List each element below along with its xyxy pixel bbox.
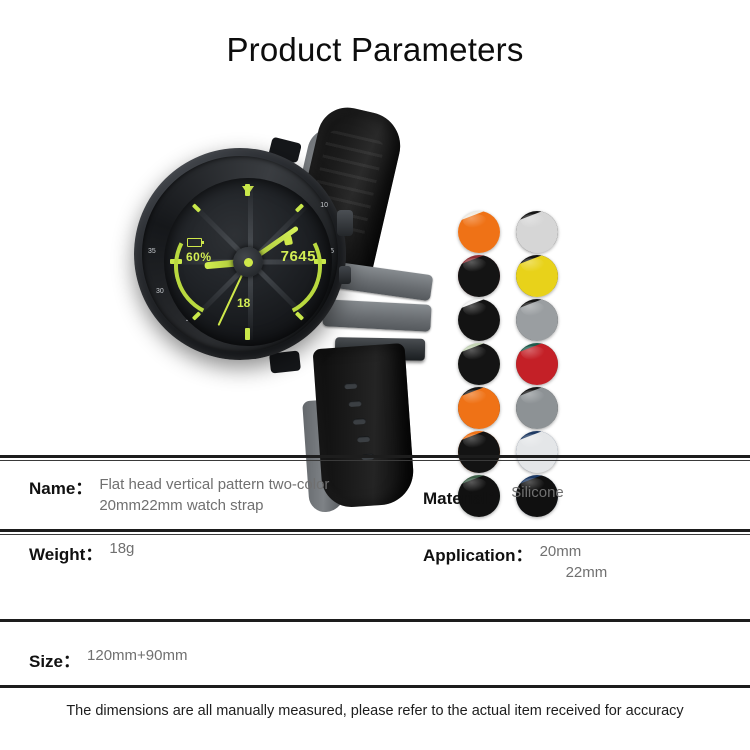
color-swatch-grid[interactable] (458, 211, 560, 517)
bezel-number-10: 10 (320, 202, 328, 209)
page-title: Product Parameters (0, 31, 750, 69)
watch-crown (337, 210, 353, 236)
strap-keeper-loop-2 (322, 299, 431, 332)
color-swatch-gray-black[interactable] (516, 299, 558, 341)
watch-pusher (339, 266, 351, 284)
table-rule-3 (0, 685, 750, 688)
spec-size-label: Size： (29, 647, 80, 672)
measurement-disclaimer: The dimensions are all manually measured… (0, 703, 750, 719)
spec-weight-value: 18g (109, 540, 134, 557)
watch-case: 10 15 20 25 30 35 (134, 148, 346, 360)
color-swatch-navy-white[interactable] (516, 431, 558, 473)
spec-application-value: 20mm 22mm (540, 541, 608, 584)
battery-icon (187, 238, 202, 247)
color-swatch-gray-black-2[interactable] (516, 387, 558, 429)
table-rule-top-hairline (0, 460, 750, 461)
spec-name: Name： Flat head vertical pattern two-col… (29, 474, 409, 517)
color-swatch-black-white[interactable] (516, 211, 558, 253)
table-rule-top (0, 455, 750, 458)
table-rule-1-hairline (0, 534, 750, 535)
color-swatch-sage-black[interactable] (458, 343, 500, 385)
spec-weight: Weight： 18g (29, 540, 134, 565)
spec-name-label: Name： (29, 474, 92, 499)
color-swatch-black-yellow[interactable] (516, 255, 558, 297)
color-swatch-white-black[interactable] (458, 299, 500, 341)
color-swatch-orange-black[interactable] (458, 387, 500, 429)
table-rule-1 (0, 529, 750, 532)
bezel-number-35: 35 (148, 248, 156, 255)
color-swatch-green-red[interactable] (516, 343, 558, 385)
spec-material: Material： Silicone (423, 484, 564, 509)
spec-weight-label: Weight： (29, 540, 102, 565)
table-rule-2 (0, 619, 750, 622)
bezel-number-30: 30 (156, 288, 164, 295)
spec-application-label: Application： (423, 541, 533, 566)
watch-assembly: 10 15 20 25 30 35 (120, 100, 460, 440)
product-parameters-page: Product Parameters (0, 0, 750, 750)
color-swatch-orange-white[interactable] (458, 211, 500, 253)
spec-material-label: Material： (423, 484, 504, 509)
color-swatch-orange-black-2[interactable] (458, 431, 500, 473)
dial-date-value: 18 (237, 296, 250, 310)
product-hero-image: 10 15 20 25 30 35 (0, 95, 750, 445)
dial-center-dot (244, 258, 253, 267)
spec-material-value: Silicone (511, 484, 564, 501)
spec-size: Size： 120mm+90mm (29, 647, 187, 672)
spec-application: Application： 20mm 22mm (423, 541, 607, 584)
spec-name-value: Flat head vertical pattern two-color 20m… (99, 474, 329, 517)
color-swatch-darkred-black[interactable] (458, 255, 500, 297)
watch-bezel: 10 15 20 25 30 35 (142, 156, 338, 352)
dial-steps-value: 7645 (281, 248, 316, 265)
watch-dial: 60% 7645 18 (164, 178, 332, 346)
spec-size-value: 120mm+90mm (87, 647, 187, 664)
